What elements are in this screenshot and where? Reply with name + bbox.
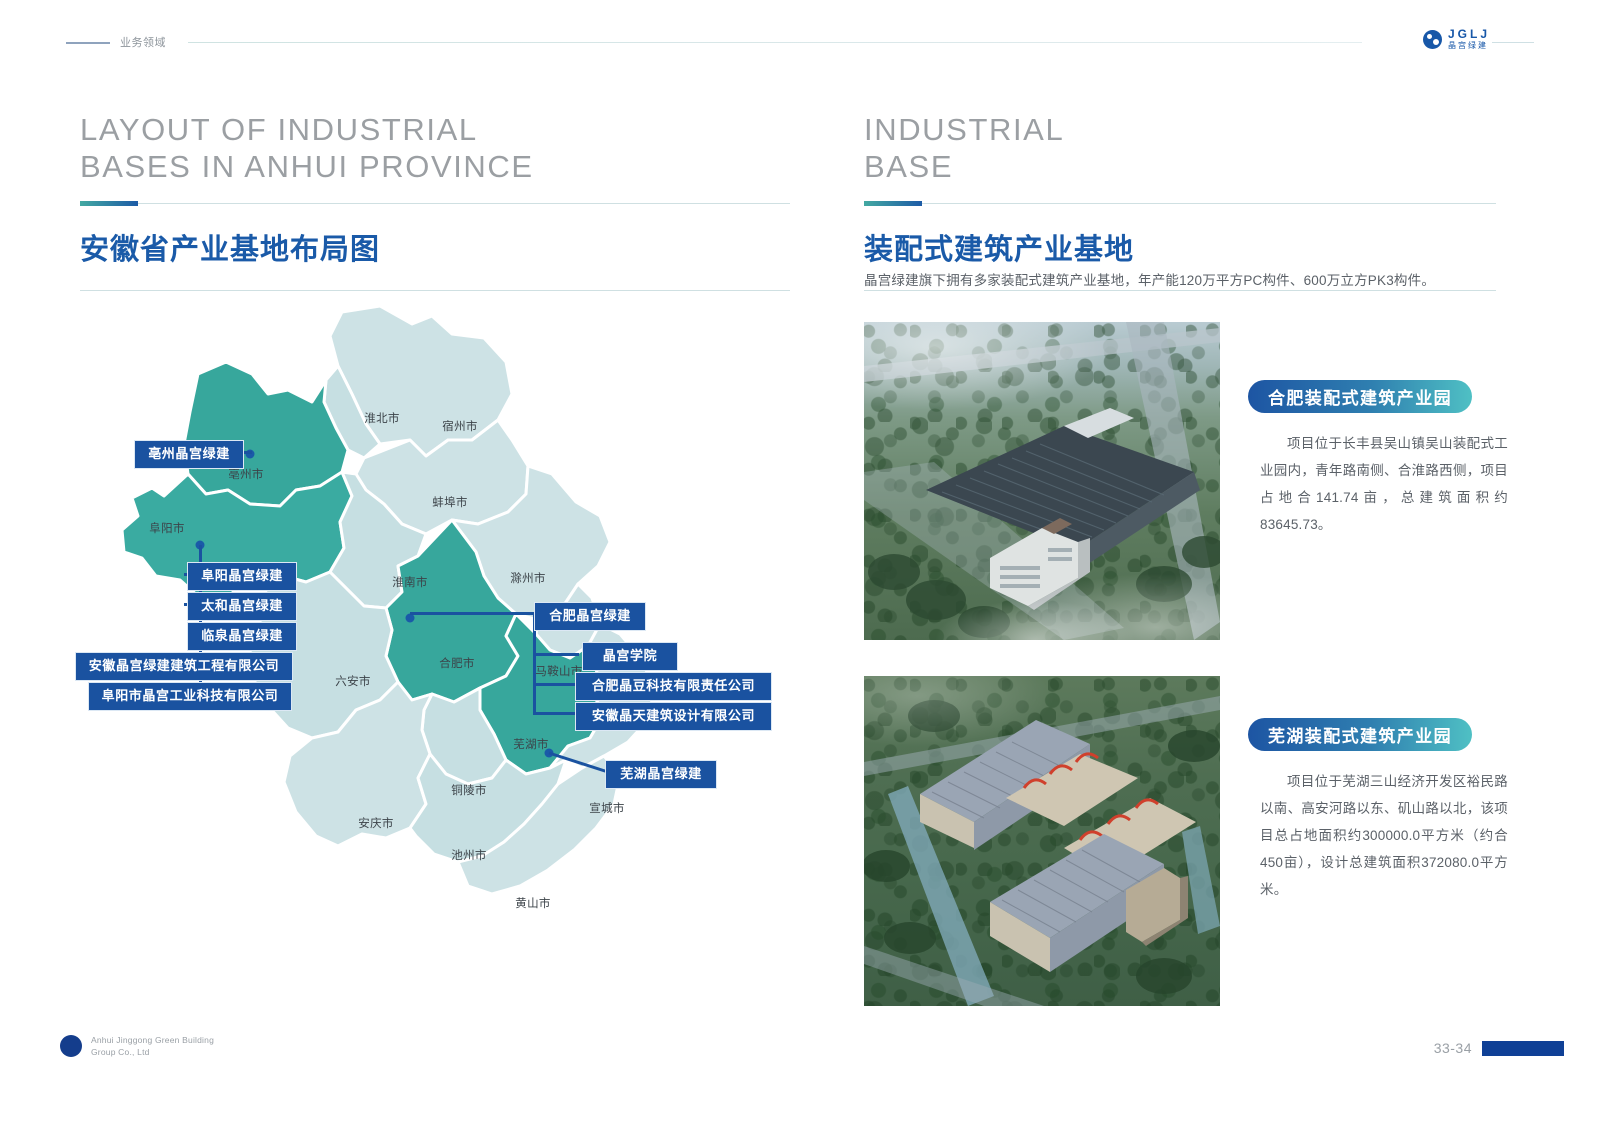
page-number-bar [1482,1041,1564,1056]
page-number: 33-34 [1434,1040,1472,1056]
right-title-cn: 装配式建筑产业基地 [864,226,1496,268]
map-node-wuhu [545,749,554,758]
map-city-label: 六安市 [335,673,370,689]
map-city-label: 宿州市 [442,418,477,434]
footer-company-name: Anhui Jinggong Green Building Group Co.,… [91,1034,214,1059]
map-callout-tag[interactable]: 安徽晶宫绿建建筑工程有限公司 [75,652,293,681]
footer-company-line2: Group Co., Ltd [91,1046,214,1058]
map-city-label: 阜阳市 [149,520,184,536]
card-badge-hefei: 合肥装配式建筑产业园 [1248,380,1472,413]
header-rule-right [1492,42,1534,43]
map-city-label: 池州市 [451,847,486,863]
map-callout-tag[interactable]: 安徽晶天建筑设计有限公司 [575,702,772,731]
header-rule-left [66,42,110,44]
breadcrumb: 业务领域 [120,34,166,50]
map-city-label: 滁州市 [510,570,545,586]
map-callout-tag[interactable]: 阜阳市晶宫工业科技有限公司 [88,682,292,711]
map-city-label: 淮南市 [392,574,427,590]
brand-name-cn: 晶宫绿建 [1448,42,1490,50]
map-city-label: 宣城市 [589,800,624,816]
leader-hefei-2 [533,683,579,686]
map-city-label: 黄山市 [515,895,550,911]
footer-company-line1: Anhui Jinggong Green Building [91,1034,214,1046]
left-accent-line [138,203,790,204]
card-body-wuhu: 项目位于芜湖三山经济开发区裕民路以南、高安河路以东、矶山路以北，该项目总占地面积… [1260,768,1508,903]
anhui-province-map: 淮北市宿州市亳州市阜阳市蚌埠市淮南市滁州市合肥市六安市马鞍山市芜湖市铜陵市宣城市… [80,290,790,940]
map-callout-tag[interactable]: 合肥晶宫绿建 [534,602,646,631]
map-city-label: 安庆市 [358,815,393,831]
left-title-cn: 安徽省产业基地布局图 [80,226,790,268]
right-accent-rule [864,201,1496,206]
map-callout-tag[interactable]: 阜阳晶宫绿建 [187,562,297,591]
header-rule-middle [188,42,1362,43]
map-callout-tag[interactable]: 太和晶宫绿建 [187,592,297,621]
left-title-en: LAYOUT OF INDUSTRIAL BASES IN ANHUI PROV… [80,112,790,185]
footer-logo: Anhui Jinggong Green Building Group Co.,… [60,1034,214,1059]
photo-haze [864,322,1220,640]
map-callout-tag[interactable]: 临泉晶宫绿建 [187,622,297,651]
leader-hefei-3 [533,712,579,715]
brochure-page: 业务领域 JGLJ 晶宫绿建 LAYOUT OF INDUSTRIAL BASE… [0,0,1600,1140]
map-callout-tag[interactable]: 芜湖晶宫绿建 [605,760,717,789]
left-accent-bar [80,201,138,206]
park-photo-wuhu [864,676,1220,1006]
brand-logo: JGLJ 晶宫绿建 [1423,28,1490,50]
brand-wordmark: JGLJ 晶宫绿建 [1448,28,1490,50]
photo-haze [864,676,1220,1006]
park-photo-hefei [864,322,1220,640]
map-callout-tag[interactable]: 合肥晶豆科技有限责任公司 [575,672,772,701]
map-city-label: 芜湖市 [513,736,548,752]
intro-paragraph: 晶宫绿建旗下拥有多家装配式建筑产业基地，年产能120万平方PC构件、600万立方… [864,268,1500,294]
map-city-label: 淮北市 [364,410,399,426]
map-city-label: 铜陵市 [451,782,486,798]
right-accent-bar [864,201,922,206]
footer-logo-dot-icon [60,1035,82,1057]
left-accent-rule [80,201,790,206]
map-callout-tag[interactable]: 晶宫学院 [582,642,678,671]
card-body-hefei: 项目位于长丰县吴山镇吴山装配式工业园内，青年路南侧、合淮路西侧，项目占地合141… [1260,430,1508,538]
brand-name-en: JGLJ [1448,28,1490,40]
leader-hefei-main [410,612,536,615]
right-title-en: INDUSTRIAL BASE [864,112,1496,185]
map-city-label: 蚌埠市 [432,494,467,510]
leader-hefei-1 [533,653,579,656]
right-column-header: INDUSTRIAL BASE 装配式建筑产业基地 [864,112,1496,291]
page-header: 业务领域 JGLJ 晶宫绿建 [0,36,1600,50]
logo-mark-icon [1423,30,1442,49]
map-city-label: 合肥市 [439,655,474,671]
right-accent-line [922,203,1496,204]
card-badge-wuhu: 芜湖装配式建筑产业园 [1248,718,1472,751]
left-column-header: LAYOUT OF INDUSTRIAL BASES IN ANHUI PROV… [80,112,790,291]
map-callout-tag[interactable]: 亳州晶宫绿建 [134,440,244,469]
